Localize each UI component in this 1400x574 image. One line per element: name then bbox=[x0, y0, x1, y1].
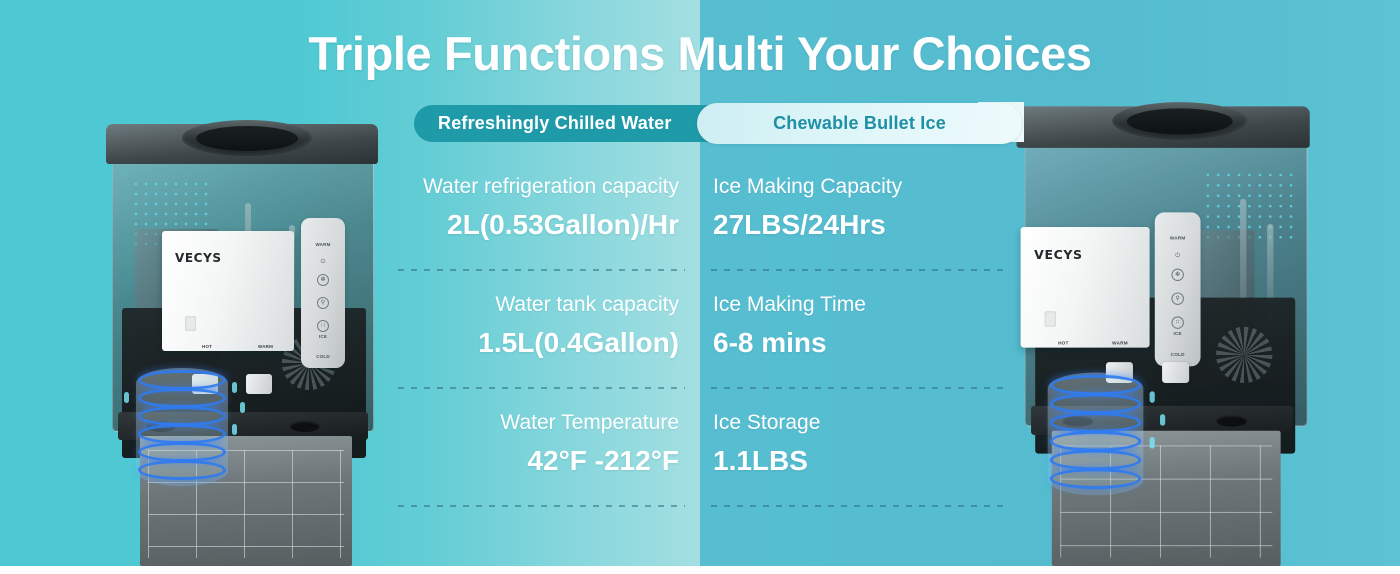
bottle-lid bbox=[182, 120, 312, 156]
cooling-coil-right bbox=[1048, 373, 1144, 496]
snowflake-icon[interactable]: ❇ bbox=[1171, 269, 1183, 281]
control-panel-right[interactable]: WARM ⏻ ❇ ⚲ ∷ ICE COLD bbox=[1155, 212, 1201, 366]
tab-chilled-water-label: Refreshingly Chilled Water bbox=[438, 105, 672, 142]
product-image-left: VECYS HOT WARM WARM ⏻ ❇ ⚲ ∷ ICE COLD bbox=[96, 118, 416, 566]
tag-warm: WARM bbox=[258, 344, 273, 349]
spec-label: Ice Making Capacity bbox=[713, 165, 1004, 199]
fan-icon bbox=[1216, 327, 1272, 383]
ctrl-label-ice: ICE bbox=[1155, 331, 1201, 336]
bottom-white-strip bbox=[0, 566, 1400, 574]
power-icon[interactable]: ⏻ bbox=[1171, 250, 1183, 262]
brand-logo: VECYS bbox=[1034, 248, 1082, 263]
product-top-cap bbox=[106, 124, 378, 164]
tag-hot: HOT bbox=[1058, 340, 1069, 345]
spec-value: 1.1LBS bbox=[713, 435, 1004, 478]
control-panel-left[interactable]: WARM ⏻ ❇ ⚲ ∷ ICE COLD bbox=[301, 218, 345, 368]
row-divider-left bbox=[398, 505, 685, 507]
bottle-lid bbox=[1112, 102, 1247, 139]
bottle-lid-inner bbox=[1127, 108, 1233, 134]
droplet-icon[interactable]: ⚲ bbox=[317, 297, 329, 309]
product-top-cap bbox=[1016, 106, 1309, 148]
row-divider-right bbox=[711, 269, 1003, 271]
spec-cell-ice-making-time: Ice Making Time 6-8 mins bbox=[701, 283, 1004, 401]
ice-cube-icon[interactable]: ∷ bbox=[1171, 316, 1183, 328]
ctrl-label-ice: ICE bbox=[301, 334, 345, 339]
tab-bullet-ice[interactable]: Chewable Bullet Ice bbox=[697, 103, 1022, 144]
tag-warm: WARM bbox=[1112, 340, 1128, 345]
spec-cell-ice-making-capacity: Ice Making Capacity 27LBS/24Hrs bbox=[701, 165, 1004, 283]
tab-bullet-ice-label: Chewable Bullet Ice bbox=[697, 103, 1022, 144]
spec-value: 1.5L(0.4Gallon) bbox=[398, 317, 679, 360]
vent-dots bbox=[1203, 170, 1299, 239]
spec-value: 42°F -212°F bbox=[398, 435, 679, 478]
droplet-icon[interactable]: ⚲ bbox=[1171, 292, 1183, 304]
spigot[interactable] bbox=[1162, 362, 1189, 383]
page-title: Triple Functions Multi Your Choices bbox=[0, 26, 1400, 81]
spec-label: Ice Storage bbox=[713, 401, 1004, 435]
spec-table: Water refrigeration capacity 2L(0.53Gall… bbox=[398, 165, 1004, 519]
promo-banner: VECYS HOT WARM WARM ⏻ ❇ ⚲ ∷ ICE COLD bbox=[0, 0, 1400, 574]
panel-button[interactable] bbox=[185, 316, 196, 331]
spec-value: 2L(0.53Gallon)/Hr bbox=[398, 199, 679, 242]
spec-label: Water tank capacity bbox=[398, 283, 679, 317]
spec-cell-water-tank-capacity: Water tank capacity 1.5L(0.4Gallon) bbox=[398, 283, 701, 401]
snowflake-icon[interactable]: ❇ bbox=[317, 274, 329, 286]
spec-label: Water refrigeration capacity bbox=[398, 165, 679, 199]
spec-cell-water-refrigeration-capacity: Water refrigeration capacity 2L(0.53Gall… bbox=[398, 165, 701, 283]
spigot[interactable] bbox=[246, 374, 272, 394]
row-divider-right bbox=[711, 387, 1003, 389]
row-divider-left bbox=[398, 269, 685, 271]
ctrl-label-cold: COLD bbox=[1155, 352, 1201, 357]
tag-hot: HOT bbox=[202, 344, 212, 349]
row-divider-left bbox=[398, 387, 685, 389]
row-divider-right bbox=[711, 505, 1003, 507]
spec-label: Ice Making Time bbox=[713, 283, 1004, 317]
brand-logo: VECYS bbox=[175, 251, 222, 265]
cooling-coil-left bbox=[136, 368, 228, 486]
spec-cell-water-temperature: Water Temperature 42°F -212°F bbox=[398, 401, 701, 519]
tab-bar: Refreshingly Chilled Water Chewable Bull… bbox=[414, 105, 1024, 142]
front-panel-left: VECYS HOT WARM bbox=[162, 231, 294, 351]
panel-button[interactable] bbox=[1045, 311, 1056, 327]
ice-cube-icon[interactable]: ∷ bbox=[317, 320, 329, 332]
spec-row: Water refrigeration capacity 2L(0.53Gall… bbox=[398, 165, 1004, 283]
bottle-lid-inner bbox=[196, 126, 298, 151]
power-icon[interactable]: ⏻ bbox=[317, 256, 329, 268]
spec-row: Water Temperature 42°F -212°F Ice Storag… bbox=[398, 401, 1004, 519]
front-panel-right: VECYS HOT WARM bbox=[1021, 227, 1150, 348]
product-image-right: VECYS HOT WARM WARM ⏻ ❇ ⚲ ∷ ICE COLD bbox=[1000, 118, 1320, 566]
ctrl-label-cold: COLD bbox=[301, 354, 345, 359]
ctrl-label-warm: WARM bbox=[1155, 235, 1201, 240]
spec-label: Water Temperature bbox=[398, 401, 679, 435]
spec-cell-ice-storage: Ice Storage 1.1LBS bbox=[701, 401, 1004, 519]
spec-value: 27LBS/24Hrs bbox=[713, 199, 1004, 242]
spec-value: 6-8 mins bbox=[713, 317, 1004, 360]
ctrl-label-warm: WARM bbox=[301, 242, 345, 247]
spec-row: Water tank capacity 1.5L(0.4Gallon) Ice … bbox=[398, 283, 1004, 401]
